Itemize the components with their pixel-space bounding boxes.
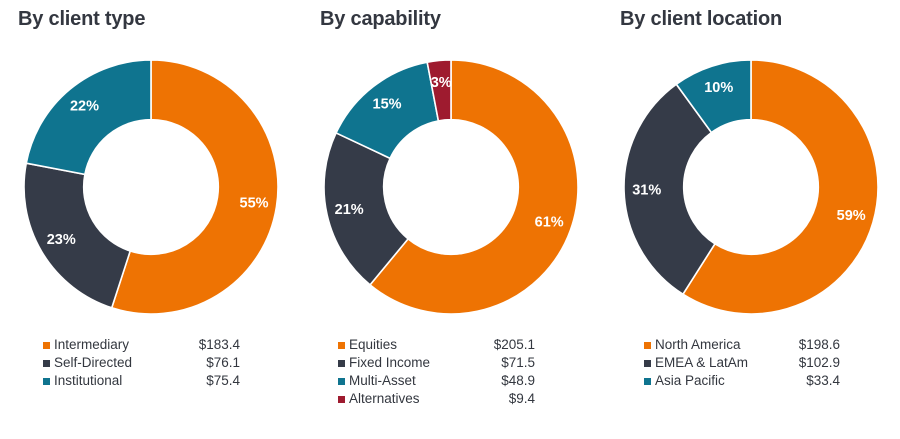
slice-percent-label: 55% bbox=[240, 195, 269, 211]
slice-percent-label: 15% bbox=[373, 97, 402, 113]
legend-value: $75.4 bbox=[150, 372, 240, 390]
legend-label: Fixed Income bbox=[349, 354, 430, 372]
legend-item[interactable]: North America$198.6 bbox=[600, 336, 900, 354]
legend-value: $33.4 bbox=[750, 372, 840, 390]
legend-swatch-icon bbox=[338, 396, 345, 403]
slice-percent-label: 10% bbox=[704, 80, 733, 96]
legend-swatch-icon bbox=[644, 378, 651, 385]
legend-label: Multi-Asset bbox=[349, 372, 416, 390]
slice-percent-label: 3% bbox=[431, 75, 452, 91]
legend-swatch-icon bbox=[43, 342, 50, 349]
legend-swatch-icon bbox=[338, 360, 345, 367]
panel-title: By client type bbox=[18, 8, 145, 31]
legend-item[interactable]: Institutional$75.4 bbox=[0, 372, 300, 390]
legend-client-location: North America$198.6EMEA & LatAm$102.9Asi… bbox=[600, 336, 900, 390]
slice-percent-label: 22% bbox=[70, 99, 99, 115]
slice-percent-label: 31% bbox=[632, 182, 661, 198]
legend-value: $198.6 bbox=[750, 336, 840, 354]
legend-item[interactable]: Fixed Income$71.5 bbox=[300, 354, 600, 372]
legend-swatch-icon bbox=[644, 360, 651, 367]
legend-value: $183.4 bbox=[150, 336, 240, 354]
donut-chart-client-location: 59%31%10% bbox=[622, 58, 880, 316]
legend-value: $48.9 bbox=[445, 372, 535, 390]
legend-value: $102.9 bbox=[750, 354, 840, 372]
chart-panel-capability: By capability 61%21%15%3% Equities$205.1… bbox=[300, 0, 600, 439]
legend-item[interactable]: Asia Pacific$33.4 bbox=[600, 372, 900, 390]
legend-item[interactable]: Equities$205.1 bbox=[300, 336, 600, 354]
legend-item[interactable]: Intermediary$183.4 bbox=[0, 336, 300, 354]
chart-panel-client-location: By client location 59%31%10% North Ameri… bbox=[600, 0, 900, 439]
panel-title: By capability bbox=[320, 8, 441, 31]
slice-percent-label: 23% bbox=[47, 232, 76, 248]
legend-value: $9.4 bbox=[445, 390, 535, 408]
legend-label: Intermediary bbox=[54, 336, 129, 354]
slice-percent-label: 59% bbox=[837, 208, 866, 224]
legend-label: Equities bbox=[349, 336, 397, 354]
donut-svg: 59%31%10% bbox=[622, 58, 880, 316]
legend-label: North America bbox=[655, 336, 741, 354]
donut-chart-capability: 61%21%15%3% bbox=[322, 58, 580, 316]
donut-svg: 61%21%15%3% bbox=[322, 58, 580, 316]
donut-svg: 55%23%22% bbox=[22, 58, 280, 316]
slice-percent-label: 61% bbox=[535, 214, 564, 230]
legend-value: $76.1 bbox=[150, 354, 240, 372]
legend-label: Alternatives bbox=[349, 390, 420, 408]
donut-slice[interactable] bbox=[24, 163, 130, 308]
legend-client-type: Intermediary$183.4Self-Directed$76.1Inst… bbox=[0, 336, 300, 390]
legend-label: EMEA & LatAm bbox=[655, 354, 748, 372]
legend-item[interactable]: Multi-Asset$48.9 bbox=[300, 372, 600, 390]
legend-swatch-icon bbox=[338, 378, 345, 385]
legend-label: Institutional bbox=[54, 372, 122, 390]
chart-panel-client-type: By client type 55%23%22% Intermediary$18… bbox=[0, 0, 300, 439]
legend-item[interactable]: Self-Directed$76.1 bbox=[0, 354, 300, 372]
legend-value: $205.1 bbox=[445, 336, 535, 354]
legend-swatch-icon bbox=[338, 342, 345, 349]
donut-slice[interactable] bbox=[26, 60, 151, 174]
legend-item[interactable]: Alternatives$9.4 bbox=[300, 390, 600, 408]
donut-chart-client-type: 55%23%22% bbox=[22, 58, 280, 316]
panel-title: By client location bbox=[620, 8, 782, 31]
legend-swatch-icon bbox=[43, 378, 50, 385]
legend-swatch-icon bbox=[43, 360, 50, 367]
donut-chart-board: By client type 55%23%22% Intermediary$18… bbox=[0, 0, 900, 439]
legend-label: Self-Directed bbox=[54, 354, 132, 372]
legend-value: $71.5 bbox=[445, 354, 535, 372]
slice-percent-label: 21% bbox=[335, 202, 364, 218]
legend-capability: Equities$205.1Fixed Income$71.5Multi-Ass… bbox=[300, 336, 600, 408]
legend-label: Asia Pacific bbox=[655, 372, 725, 390]
legend-item[interactable]: EMEA & LatAm$102.9 bbox=[600, 354, 900, 372]
legend-swatch-icon bbox=[644, 342, 651, 349]
